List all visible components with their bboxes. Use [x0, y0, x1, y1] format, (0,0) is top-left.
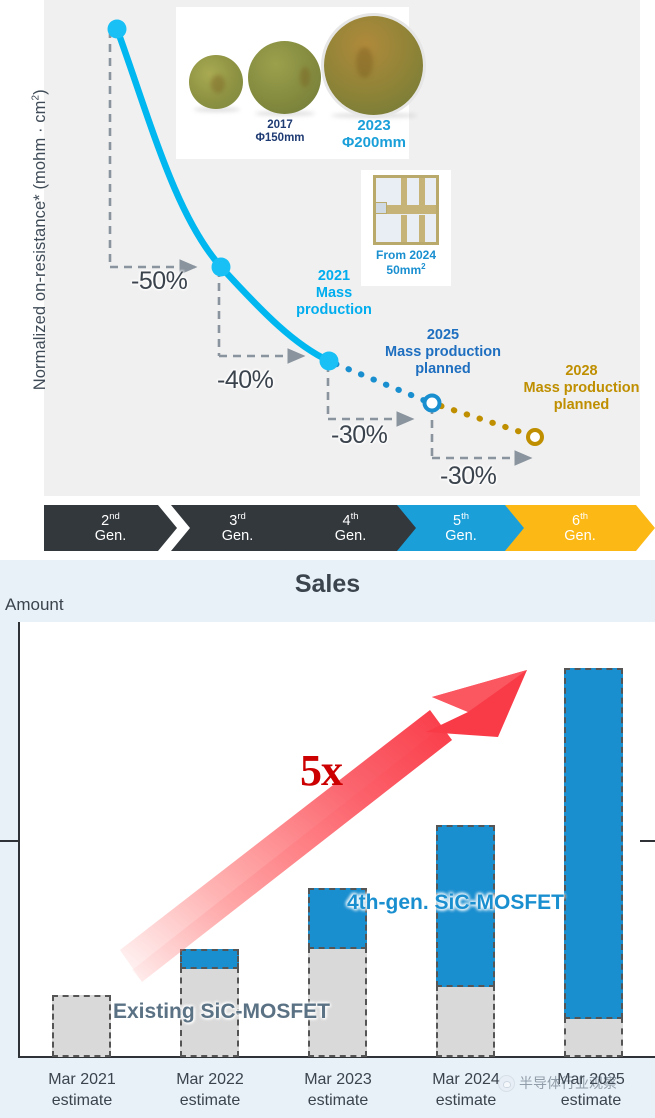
chip-trace-icon	[419, 178, 425, 205]
generation-timeline: 2nd Gen. 3rd Gen. 4th Gen. 5th Gen. 6th …	[44, 505, 655, 551]
annotation-2025: 2025 Mass production planned	[358, 327, 528, 378]
on-resistance-chart-panel: Normalized on-resistance* (mohm · cm2)	[0, 0, 655, 560]
generation-chip-4th-ordinal: 4th	[342, 512, 358, 529]
chip-trace-icon	[401, 215, 407, 242]
wafer-caption-2017: 2017 Φ150mm	[234, 119, 326, 145]
sales-axis-tick-right	[640, 840, 655, 842]
sales-y-axis-label: Amount	[5, 595, 64, 615]
generation-chip-2nd[interactable]: 2nd Gen.	[44, 505, 177, 551]
x-label-2021: Mar 2021 estimate	[18, 1070, 146, 1112]
watermark-text: 半导体行业观察	[519, 1073, 617, 1093]
bar-2024-existing[interactable]	[436, 985, 495, 1057]
reduction-label-40: -40%	[217, 366, 273, 395]
wafer-spot-icon	[356, 47, 373, 78]
generation-chip-5th-label: Gen.	[445, 529, 476, 544]
generation-chip-3rd-label: Gen.	[222, 529, 253, 544]
generation-chip-5th-ordinal: 5th	[453, 512, 469, 529]
sales-chart-title: Sales	[0, 570, 655, 599]
x-label-2022: Mar 2022 estimate	[146, 1070, 274, 1112]
wafer-200mm-icon	[324, 16, 423, 115]
chip-die-surface	[376, 178, 436, 242]
annotation-2021-line3: production	[279, 302, 389, 319]
chip-caption-line1: From 2024	[361, 248, 451, 262]
x-label-2021-line1: Mar 2021	[18, 1070, 146, 1091]
wafer-150mm-old-icon	[189, 55, 243, 109]
chip-caption: From 2024 50mm2	[361, 248, 451, 278]
chip-pad-icon	[375, 202, 387, 214]
chip-caption-superscript: 2	[421, 262, 425, 271]
wafer-caption-2023-size: Φ200mm	[324, 134, 424, 151]
bar-2022-4th-gen[interactable]	[180, 949, 239, 969]
annotation-2021-line2: Mass	[279, 285, 389, 302]
chip-caption-line2: 50mm2	[361, 262, 451, 277]
x-label-2023: Mar 2023 estimate	[274, 1070, 402, 1112]
generation-chip-6th-ordinal: 6th	[572, 512, 588, 529]
bar-2025-existing[interactable]	[564, 1017, 623, 1057]
wafer-150mm-icon	[248, 41, 321, 114]
sales-axis-tick-left	[0, 840, 18, 842]
annotation-2028: 2028 Mass production planned	[508, 363, 655, 414]
source-watermark: 半导体行业观察	[498, 1073, 617, 1093]
x-label-2023-line2: estimate	[274, 1091, 402, 1112]
generation-chip-6th-label: Gen.	[564, 529, 595, 544]
wafer-caption-2017-size: Φ150mm	[234, 132, 326, 145]
chip-trace-icon	[401, 178, 407, 205]
reduction-label-30-a: -30%	[331, 421, 387, 450]
chip-die-icon	[373, 175, 439, 245]
wafer-caption-2017-year: 2017	[234, 119, 326, 132]
generation-chip-4th[interactable]: 4th Gen.	[284, 505, 417, 551]
generation-chip-5th[interactable]: 5th Gen.	[397, 505, 525, 551]
generation-chip-2nd-ordinal: 2nd	[101, 512, 120, 529]
bar-2021-existing[interactable]	[52, 995, 111, 1057]
generation-chip-3rd-ordinal: 3rd	[229, 512, 246, 529]
reduction-label-50: -50%	[131, 267, 187, 296]
annotation-2025-line2: Mass production	[358, 344, 528, 361]
wafer-spot-icon	[300, 67, 310, 87]
reduction-label-30-b: -30%	[440, 462, 496, 491]
x-label-2021-line2: estimate	[18, 1091, 146, 1112]
x-label-2022-line2: estimate	[146, 1091, 274, 1112]
x-label-2025-line2: estimate	[527, 1091, 655, 1112]
sales-y-axis-line	[18, 622, 20, 1058]
growth-multiplier-badge: 5x	[300, 745, 342, 796]
wafer-photo-inset: 2017 Φ150mm 2023 Φ200mm	[176, 7, 409, 159]
annotation-2025-year: 2025	[358, 327, 528, 344]
legend-existing-sic-mosfet: Existing SiC-MOSFET	[113, 1000, 330, 1024]
x-label-2023-line1: Mar 2023	[274, 1070, 402, 1091]
annotation-2028-line3: planned	[508, 397, 655, 414]
annotation-2028-year: 2028	[508, 363, 655, 380]
generation-chip-6th[interactable]: 6th Gen.	[505, 505, 655, 551]
annotation-2028-line2: Mass production	[508, 380, 655, 397]
x-label-2024-line2: estimate	[402, 1091, 530, 1112]
annotation-2025-line3: planned	[358, 361, 528, 378]
wafer-spot-icon	[211, 75, 225, 93]
chip-caption-area: 50mm	[386, 263, 421, 277]
chip-trace-icon	[419, 215, 425, 242]
wafer-caption-2023-year: 2023	[324, 117, 424, 134]
wafer-caption-2023: 2023 Φ200mm	[324, 117, 424, 152]
generation-chip-4th-label: Gen.	[335, 529, 366, 544]
watermark-logo-icon	[498, 1075, 515, 1092]
generation-chip-2nd-label: Gen.	[95, 529, 126, 544]
bar-2025-4th-gen[interactable]	[564, 668, 623, 1019]
generation-chip-3rd[interactable]: 3rd Gen.	[171, 505, 304, 551]
x-label-2022-line1: Mar 2022	[146, 1070, 274, 1091]
legend-4th-gen-sic-mosfet: 4th-gen. SiC-MOSFET	[347, 891, 564, 915]
chip-photo-inset: From 2024 50mm2	[361, 170, 451, 286]
